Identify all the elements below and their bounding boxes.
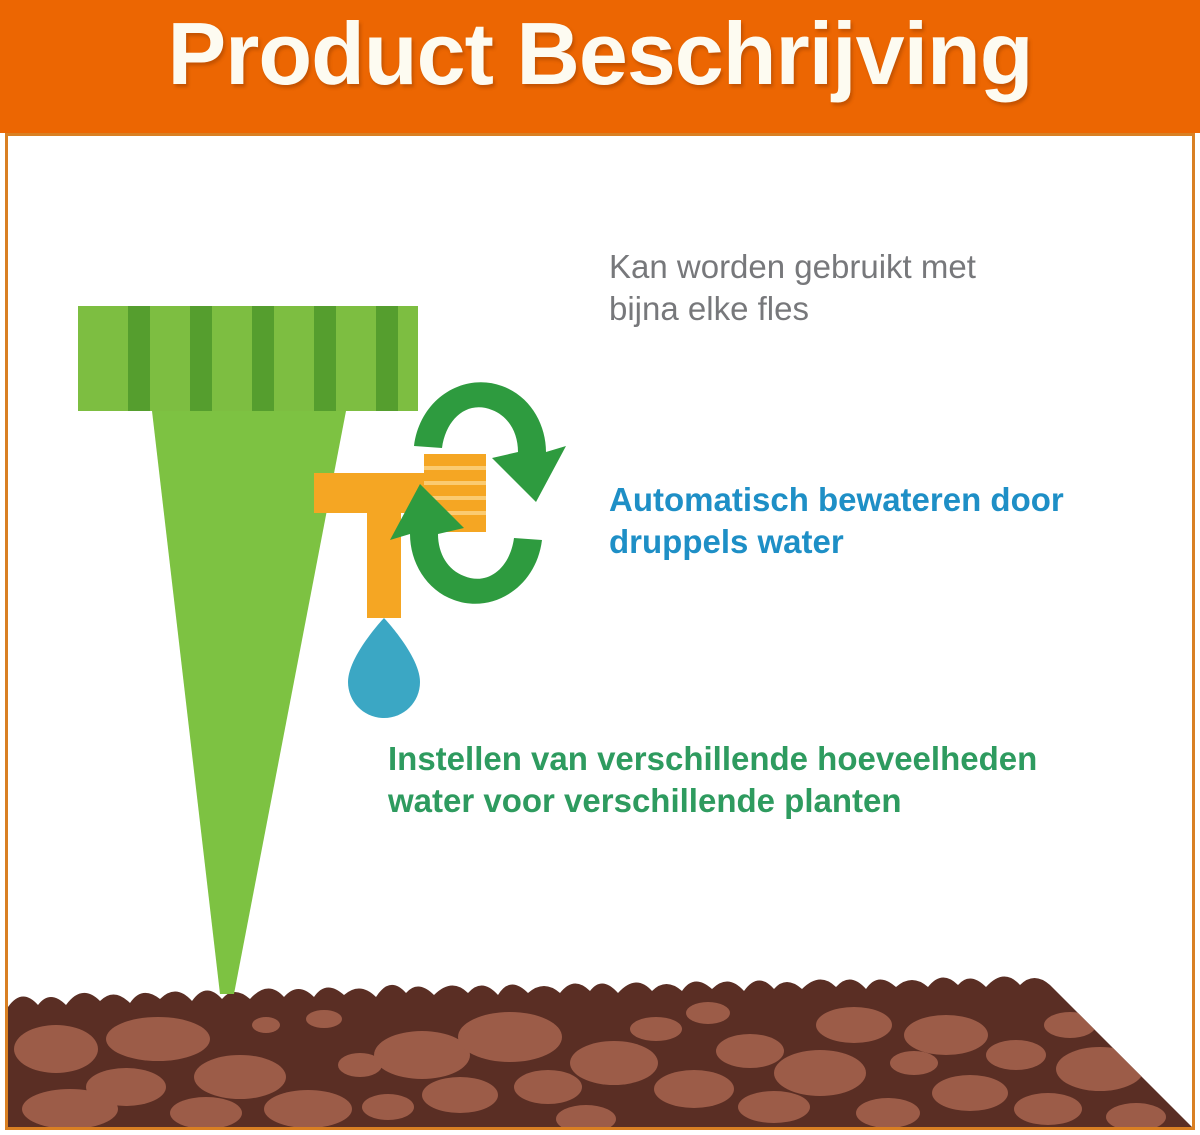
- content-frame: Kan worden gebruikt met bijna elke fles …: [5, 133, 1195, 1130]
- header-banner: Product Beschrijving: [0, 0, 1200, 133]
- callout-bottle-compatibility: Kan worden gebruikt met bijna elke fles: [609, 246, 1129, 330]
- callout-adjustable-water-amount: Instellen van verschillende hoeveelheden…: [388, 738, 1168, 822]
- product-description-infographic: Product Beschrijving: [0, 0, 1200, 1135]
- callout-automatic-drip-watering: Automatisch bewateren door druppels wate…: [609, 479, 1169, 563]
- watering-spike-icon: [68, 306, 588, 996]
- spike-cap: [78, 306, 418, 411]
- water-droplet-icon: [348, 618, 420, 718]
- page-title: Product Beschrijving: [0, 0, 1200, 114]
